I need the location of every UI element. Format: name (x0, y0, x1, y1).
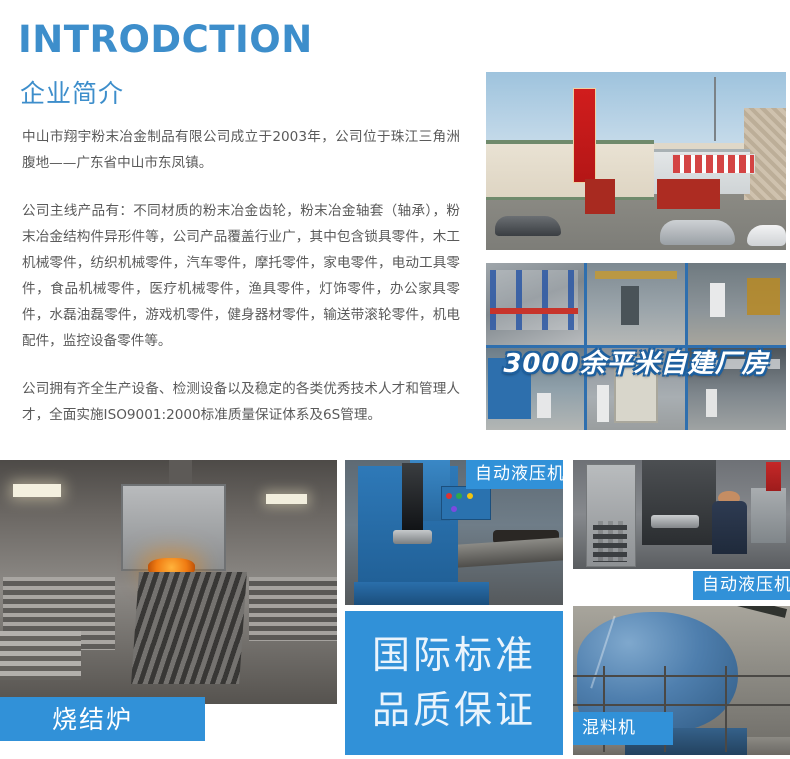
press-control-panel (441, 486, 491, 520)
exterior-welcome-sign (672, 154, 755, 174)
press-conveyor (458, 538, 563, 569)
press-led-green (456, 493, 462, 499)
exterior-car-silver (660, 220, 735, 245)
press2-machine-body (642, 460, 716, 545)
press2-operator-body (712, 501, 747, 553)
exterior-factory-gate (585, 179, 615, 215)
quality-slogan-block: 国际标准 品质保证 (345, 611, 563, 755)
photo-workshop-collage: 3000余平米自建厂房 (486, 263, 786, 430)
press2-wall-banner (766, 462, 781, 490)
press-led-red (446, 493, 452, 499)
caption-badge-hydraulic-press-right: 自动液压机 (693, 571, 790, 600)
collage-cell-warehouse-racks (486, 263, 584, 345)
caption-badge-mixer: 混料机 (573, 712, 673, 745)
photo-hydraulic-press-right (573, 460, 790, 569)
furnace-ceiling-lamp-left (13, 484, 60, 496)
quality-slogan-line-1: 国际标准 (372, 628, 536, 683)
press-led-violet (451, 506, 457, 512)
exterior-vertical-banner-sign (573, 88, 596, 183)
furnace-part-trays-left-front (0, 631, 81, 680)
mixer-guard-post-3 (725, 666, 727, 752)
press-base (354, 582, 489, 605)
mixer-guard-rail-upper (573, 675, 790, 677)
mixer-guard-rail-lower (573, 704, 790, 706)
photo-sintering-furnace (0, 460, 337, 704)
collage-cell-press-line (587, 263, 685, 345)
exterior-car-dark (495, 216, 561, 236)
press2-die-tooling (651, 515, 699, 528)
exterior-red-wall-sign (657, 179, 720, 209)
photo-factory-exterior (486, 72, 786, 250)
caption-badge-sintering-furnace: 烧结炉 (0, 697, 205, 741)
exterior-main-building (486, 140, 654, 200)
collage-cell-control-cabinet (587, 348, 685, 430)
collage-grid (486, 263, 786, 430)
press2-side-cabinet (751, 488, 786, 543)
intro-paragraph-1: 中山市翔宇粉末冶金制品有限公司成立于2003年，公司位于珠江三角洲腹地——广东省… (22, 124, 460, 176)
page-title-english: INTRODCTION (18, 18, 313, 62)
exterior-utility-pole (714, 77, 716, 141)
caption-badge-hydraulic-press-middle: 自动液压机 (466, 460, 563, 489)
intro-paragraph-2: 公司主线产品有：不同材质的粉末冶金齿轮，粉末冶金轴套（轴承），粉末冶金结构件异形… (22, 198, 460, 354)
press-die-tooling (393, 530, 432, 545)
press-led-yellow (467, 493, 473, 499)
collage-cell-blue-presses (486, 348, 584, 430)
furnace-ceiling-lamp-right (266, 494, 306, 504)
press-ram-cylinder (402, 463, 424, 533)
furnace-part-trays-right (249, 577, 337, 640)
page-title-chinese: 企业简介 (20, 74, 124, 110)
quality-slogan-line-2: 品质保证 (372, 683, 536, 738)
mixer-loading-arm (700, 606, 786, 618)
collage-cell-machining-area (688, 263, 786, 345)
intro-paragraph-3: 公司拥有齐全生产设备、检测设备以及稳定的各类优秀技术人才和管理人才，全面实施IS… (22, 376, 460, 428)
page-root: INTRODCTION 企业简介 中山市翔宇粉末冶金制品有限公司成立于2003年… (0, 0, 790, 759)
press2-button-array (593, 521, 628, 562)
furnace-mesh-belt-conveyor (131, 572, 247, 684)
exterior-car-white (747, 225, 786, 246)
company-introduction-text: 中山市翔宇粉末冶金制品有限公司成立于2003年，公司位于珠江三角洲腹地——广东省… (22, 124, 460, 428)
collage-cell-assembly-line (688, 348, 786, 430)
